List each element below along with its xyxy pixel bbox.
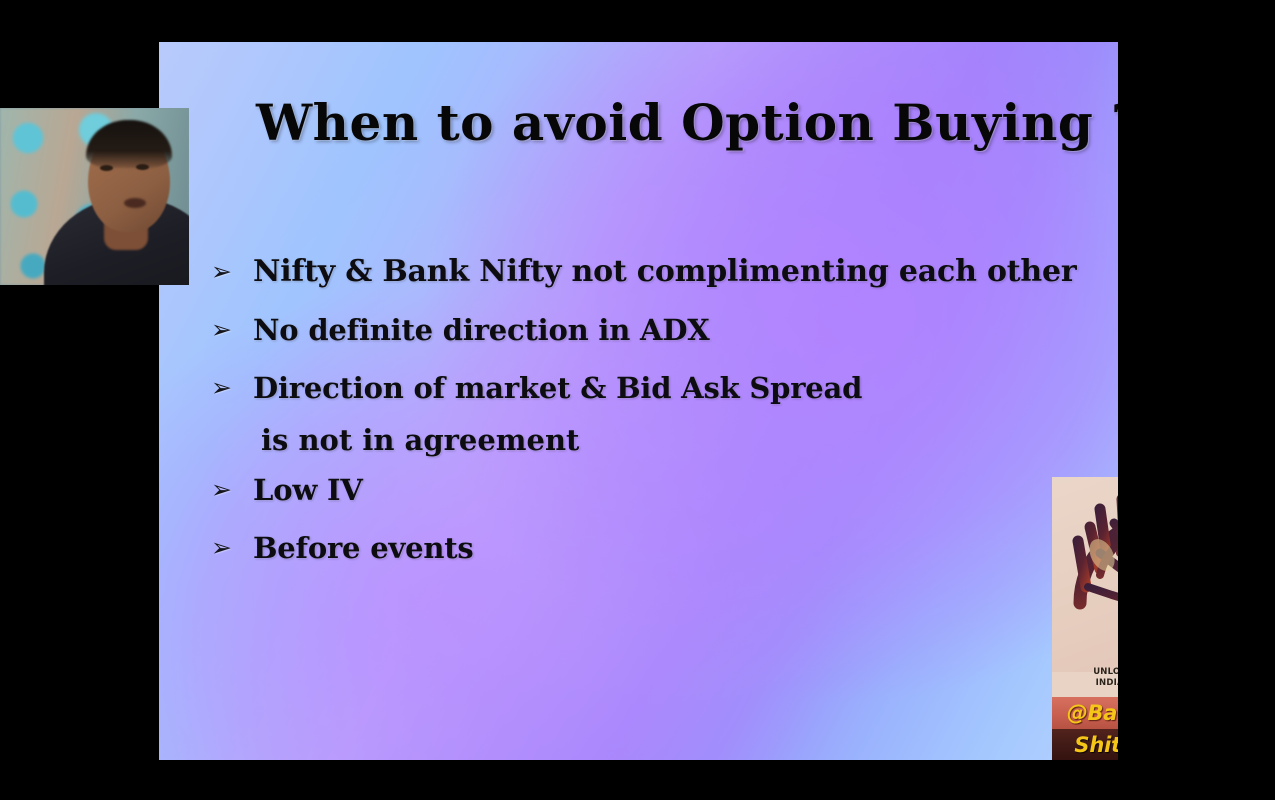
- presenter-name: Shithil Nanaiah: [1074, 733, 1118, 757]
- list-item: ➢ No definite direction in ADX: [211, 310, 1101, 350]
- page-title: When to avoid Option Buying ?: [256, 97, 1076, 150]
- arrowhead-bullet-icon: ➢: [211, 252, 253, 292]
- presenter-mouth: [124, 198, 146, 208]
- brand-name-band: Shithil Nanaiah: [1052, 729, 1118, 760]
- presentation-slide: When to avoid Option Buying ? ➢ Nifty & …: [159, 42, 1118, 760]
- list-item-label: Direction of market & Bid Ask Spread: [253, 368, 1101, 408]
- bullet-list: ➢ Nifty & Bank Nifty not complimenting e…: [211, 252, 1101, 586]
- tree-logo-icon: [1052, 477, 1118, 672]
- brand-handle-band: @BankNiftyAdda: [1052, 697, 1118, 729]
- brand-handle: @BankNiftyAdda: [1067, 701, 1118, 725]
- tree-logo-svg: [1066, 483, 1119, 671]
- arrowhead-bullet-icon: ➢: [211, 310, 253, 350]
- presenter-eye-right: [136, 164, 149, 170]
- brand-tagline: UNLOCKING THE SHORES OF INDIAN FINANCIAL…: [1052, 667, 1118, 689]
- brand-tagline-line1: UNLOCKING THE SHORES OF: [1052, 667, 1118, 678]
- arrowhead-bullet-icon: ➢: [211, 528, 253, 568]
- list-item-label: Before events: [253, 528, 1101, 568]
- arrowhead-bullet-icon: ➢: [211, 368, 253, 408]
- list-item: ➢ Low IV: [211, 470, 1101, 510]
- list-item: ➢ Nifty & Bank Nifty not complimenting e…: [211, 252, 1101, 292]
- presenter-webcam[interactable]: [0, 108, 189, 285]
- list-item-label: No definite direction in ADX: [253, 310, 1101, 350]
- presenter-eye-left: [100, 165, 113, 171]
- list-item: ➢ Direction of market & Bid Ask Spread: [211, 368, 1101, 408]
- arrowhead-bullet-icon: ➢: [211, 470, 253, 510]
- branding-watermark: UNLOCKING THE SHORES OF INDIAN FINANCIAL…: [1052, 477, 1118, 760]
- screen-share-stage: When to avoid Option Buying ? ➢ Nifty & …: [0, 0, 1275, 800]
- list-item-label: Nifty & Bank Nifty not complimenting eac…: [253, 252, 1101, 292]
- list-item-label: Low IV: [253, 470, 1101, 510]
- list-item-continuation: is not in agreement: [253, 420, 1101, 460]
- brand-tagline-line2: INDIAN FINANCIAL MARKET: [1052, 678, 1118, 689]
- list-item: ➢ Before events: [211, 528, 1101, 568]
